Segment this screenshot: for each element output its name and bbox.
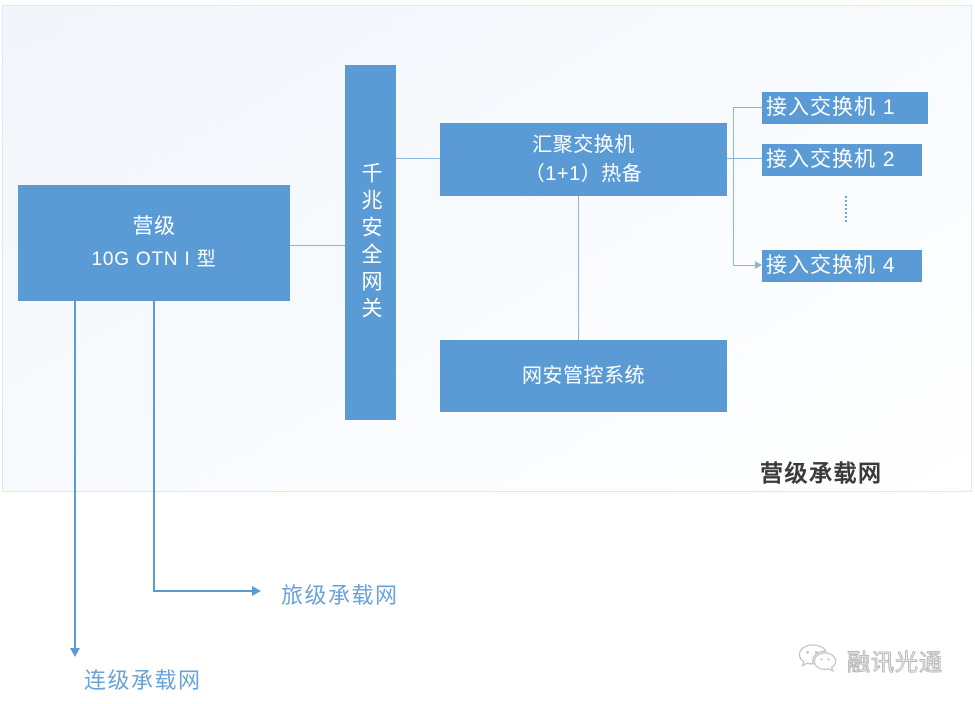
access-switch-ellipsis	[845, 196, 847, 222]
connector-to-access-switch-1	[733, 107, 763, 108]
node-access-switch-1[interactable]: 接入交换机 1	[762, 92, 928, 124]
node-nsm-label: 网安管控系统	[522, 363, 645, 390]
arrowhead-access-switch-4	[755, 261, 762, 269]
node-access-switch-2-label: 接入交换机 2	[766, 146, 896, 174]
connector-to-access-switch-4	[733, 265, 756, 266]
connector-to-access-switch-2	[733, 158, 763, 159]
connector-otn-to-gateway	[290, 245, 346, 246]
node-gigabit-security-gateway[interactable]: 千兆安全网关	[345, 65, 396, 420]
connector-otn-to-brigade-network-horizontal	[153, 590, 253, 592]
node-aggregation-line1: 汇聚交换机	[532, 132, 635, 159]
external-label-brigade-bearing-network: 旅级承载网	[281, 578, 399, 610]
connector-gateway-to-aggregation	[396, 158, 441, 159]
connector-otn-to-company-network	[74, 301, 76, 651]
watermark-text: 融讯光通	[847, 643, 943, 677]
external-label-company-bearing-network: 连级承载网	[84, 663, 202, 695]
node-network-security-management-system[interactable]: 网安管控系统	[440, 340, 727, 412]
connector-otn-to-brigade-network-vertical	[153, 301, 155, 591]
node-aggregation-switch[interactable]: 汇聚交换机 （1+1）热备	[440, 123, 727, 196]
arrowhead-brigade-network	[252, 586, 261, 596]
node-access-switch-1-label: 接入交换机 1	[766, 94, 896, 122]
node-access-switch-2[interactable]: 接入交换机 2	[762, 144, 922, 176]
wechat-icon	[798, 642, 840, 677]
connector-aggregation-to-nsm	[578, 196, 579, 341]
node-otn-line1: 营级	[133, 213, 176, 241]
arrowhead-company-network	[70, 648, 80, 657]
node-gateway-label: 千兆安全网关	[360, 162, 381, 324]
node-otn[interactable]: 营级 10G OTN I 型	[18, 185, 290, 301]
diagram-canvas: 营级 10G OTN I 型 千兆安全网关 汇聚交换机 （1+1）热备 网安管控…	[0, 0, 975, 704]
node-access-switch-4[interactable]: 接入交换机 4	[762, 250, 922, 282]
node-otn-line2: 10G OTN I 型	[92, 247, 217, 273]
node-access-switch-4-label: 接入交换机 4	[766, 252, 896, 280]
connector-access-tree-spine	[733, 107, 734, 266]
zone-label-battalion-bearing-network: 营级承载网	[760, 454, 883, 488]
node-aggregation-line2: （1+1）热备	[525, 161, 642, 188]
watermark: 融讯光通	[798, 642, 943, 677]
